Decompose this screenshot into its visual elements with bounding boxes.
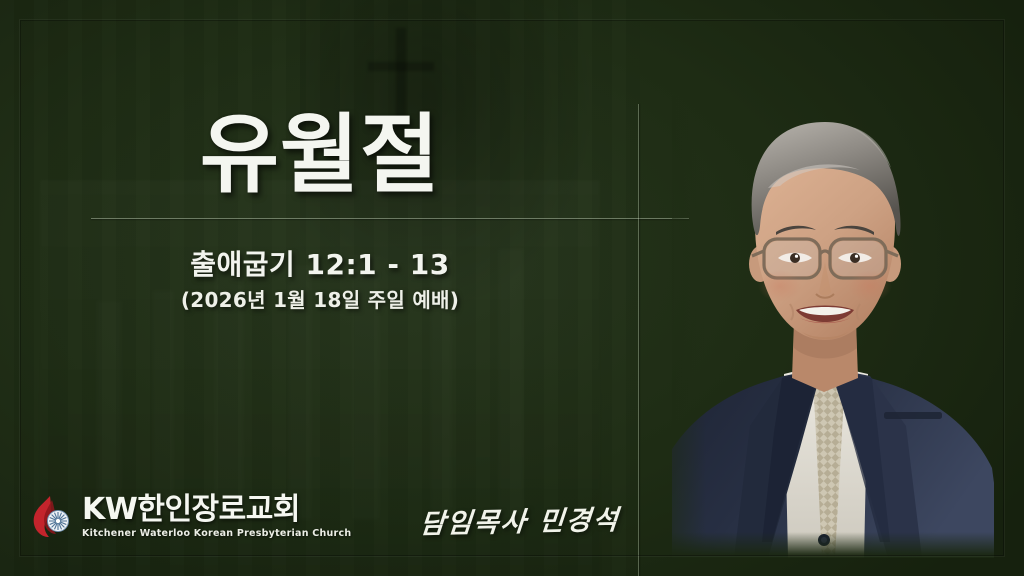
church-logo: KW한인장로교회 Kitchener Waterloo Korean Presb… xyxy=(30,494,351,540)
church-name-english: Kitchener Waterloo Korean Presbyterian C… xyxy=(82,528,351,539)
sermon-title: 유월절 xyxy=(0,112,640,198)
pastor-portrait-illustration xyxy=(672,96,994,558)
pastor-signature: 담임목사 민경석 xyxy=(398,497,642,541)
flame-cross-emblem-icon xyxy=(30,494,74,540)
church-logo-text: KW한인장로교회 Kitchener Waterloo Korean Presb… xyxy=(82,495,351,539)
church-name-korean: KW한인장로교회 xyxy=(82,495,351,526)
flame-cross-emblem-svg xyxy=(30,494,74,540)
portrait-bottom-fade xyxy=(672,532,994,558)
portrait-left-fade xyxy=(672,96,706,558)
background-window-shape xyxy=(96,300,122,510)
pastor-portrait xyxy=(672,96,994,558)
scripture-reference: 출애굽기 12:1 - 13 xyxy=(0,243,640,283)
service-date-label: (2026년 1월 18일 주일 예배) xyxy=(0,284,640,313)
background-window-shape xyxy=(152,290,174,515)
sermon-title-slide: 유월절 출애굽기 12:1 - 13 (2026년 1월 18일 주일 예배) … xyxy=(0,0,1024,576)
cross-silhouette-arm-icon xyxy=(368,62,434,71)
horizontal-divider-rule xyxy=(91,218,689,219)
